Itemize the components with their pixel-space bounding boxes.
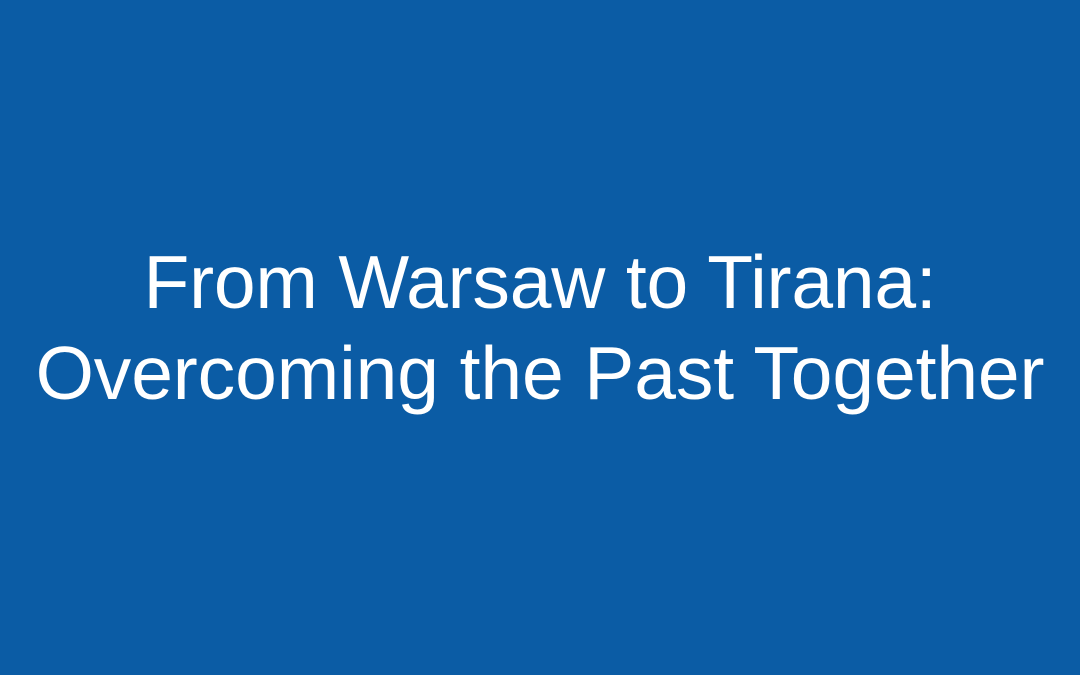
page-title: From Warsaw to Tirana: Overcoming the Pa…	[0, 237, 1080, 419]
title-line-2: Overcoming the Past Together	[0, 328, 1080, 419]
social-share-card: From Warsaw to Tirana: Overcoming the Pa…	[0, 0, 1080, 675]
title-line-1: From Warsaw to Tirana:	[0, 237, 1080, 328]
